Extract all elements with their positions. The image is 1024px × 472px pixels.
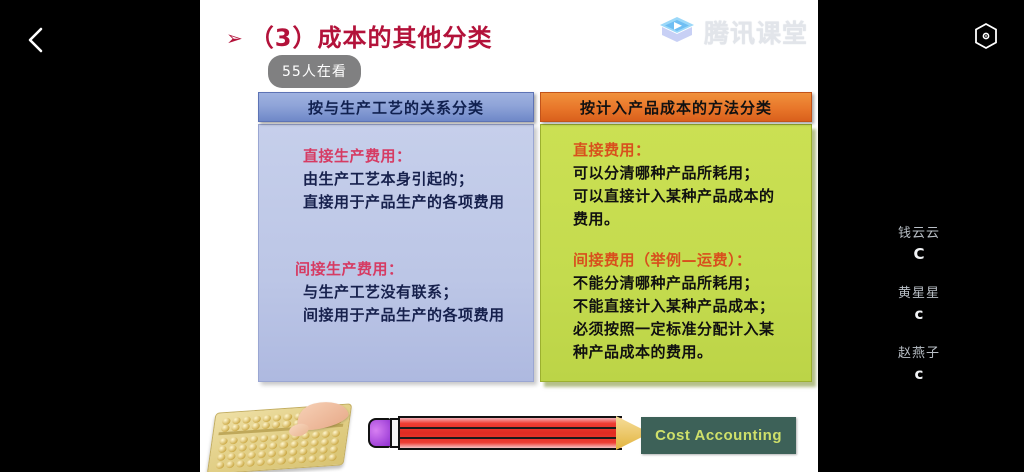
panel-body-right: 直接费用： 可以分清哪种产品所耗用； 可以直接计入某种产品成本的 费用。 间接费…	[540, 124, 812, 382]
block-line: 必须按照一定标准分配计入某	[573, 318, 801, 341]
block-direct-cost: 直接费用： 可以分清哪种产品所耗用； 可以直接计入某种产品成本的 费用。	[551, 139, 801, 231]
block-line: 由生产工艺本身引起的；	[303, 168, 523, 191]
block-heading: 直接费用：	[573, 139, 801, 162]
comparison-panels: 按与生产工艺的关系分类 直接生产费用： 由生产工艺本身引起的； 直接用于产品生产…	[256, 92, 818, 382]
block-line: 间接用于产品生产的各项费用	[295, 304, 523, 327]
block-line: 不能分清哪种产品所耗用；	[573, 272, 801, 295]
tencent-classroom-watermark: 腾讯课堂	[658, 14, 808, 50]
block-line: 直接用于产品生产的各项费用	[303, 191, 523, 214]
chat-message-list: 钱云云 C 黄星星 c 赵燕子 c	[818, 0, 1024, 472]
block-line: 费用。	[573, 208, 801, 231]
chat-message: C	[828, 243, 1010, 265]
slide-title-text: （3）成本的其他分类	[250, 25, 493, 51]
block-line: 与生产工艺没有联系；	[295, 281, 523, 304]
bullet-arrow-icon: ➢	[226, 25, 243, 51]
block-line: 不能直接计入某种产品成本；	[573, 295, 801, 318]
list-item: 黄星星 c	[828, 285, 1010, 325]
watermark-text: 腾讯课堂	[704, 14, 808, 50]
chat-username: 黄星星	[828, 285, 1010, 303]
chat-message: c	[828, 303, 1010, 325]
viewer-count-badge: 55人在看	[268, 55, 361, 88]
chevron-left-icon	[25, 25, 47, 55]
block-heading: 间接费用（举例—运费）：	[573, 249, 801, 272]
list-item: 赵燕子 c	[828, 345, 1010, 385]
list-item: 钱云云 C	[828, 225, 1010, 265]
block-indirect-production-cost: 间接生产费用： 与生产工艺没有联系； 间接用于产品生产的各项费用	[269, 258, 523, 327]
block-line: 种产品成本的费用。	[573, 341, 801, 364]
hexagon-settings-icon	[973, 22, 999, 54]
panel-header-right: 按计入产品成本的方法分类	[540, 92, 812, 122]
chat-message: c	[828, 363, 1010, 385]
pencil-image	[368, 416, 668, 450]
block-heading: 间接生产费用：	[295, 258, 523, 281]
slide-footer-clipart: Cost Accounting	[200, 382, 818, 472]
panel-cost-inclusion-method: 按计入产品成本的方法分类 直接费用： 可以分清哪种产品所耗用； 可以直接计入某种…	[538, 92, 818, 382]
block-heading: 直接生产费用：	[303, 145, 523, 168]
chat-username: 赵燕子	[828, 345, 1010, 363]
page-title: ➢ （3）成本的其他分类	[226, 25, 492, 51]
settings-button[interactable]	[968, 20, 1004, 56]
video-player[interactable]: ➢ （3）成本的其他分类 腾讯课堂 按与生产工艺的关系分类	[0, 0, 1024, 472]
cost-accounting-label: Cost Accounting	[641, 417, 796, 454]
chat-username: 钱云云	[828, 225, 1010, 243]
block-line: 可以直接计入某种产品成本的	[573, 185, 801, 208]
panel-process-relation: 按与生产工艺的关系分类 直接生产费用： 由生产工艺本身引起的； 直接用于产品生产…	[256, 92, 538, 382]
back-button[interactable]	[14, 18, 58, 62]
block-indirect-cost: 间接费用（举例—运费）： 不能分清哪种产品所耗用； 不能直接计入某种产品成本； …	[551, 249, 801, 364]
panel-header-left: 按与生产工艺的关系分类	[258, 92, 534, 122]
block-line: 可以分清哪种产品所耗用；	[573, 162, 801, 185]
block-direct-production-cost: 直接生产费用： 由生产工艺本身引起的； 直接用于产品生产的各项费用	[269, 145, 523, 214]
panel-body-left: 直接生产费用： 由生产工艺本身引起的； 直接用于产品生产的各项费用 间接生产费用…	[258, 124, 534, 382]
graduation-cap-play-icon	[658, 14, 696, 50]
